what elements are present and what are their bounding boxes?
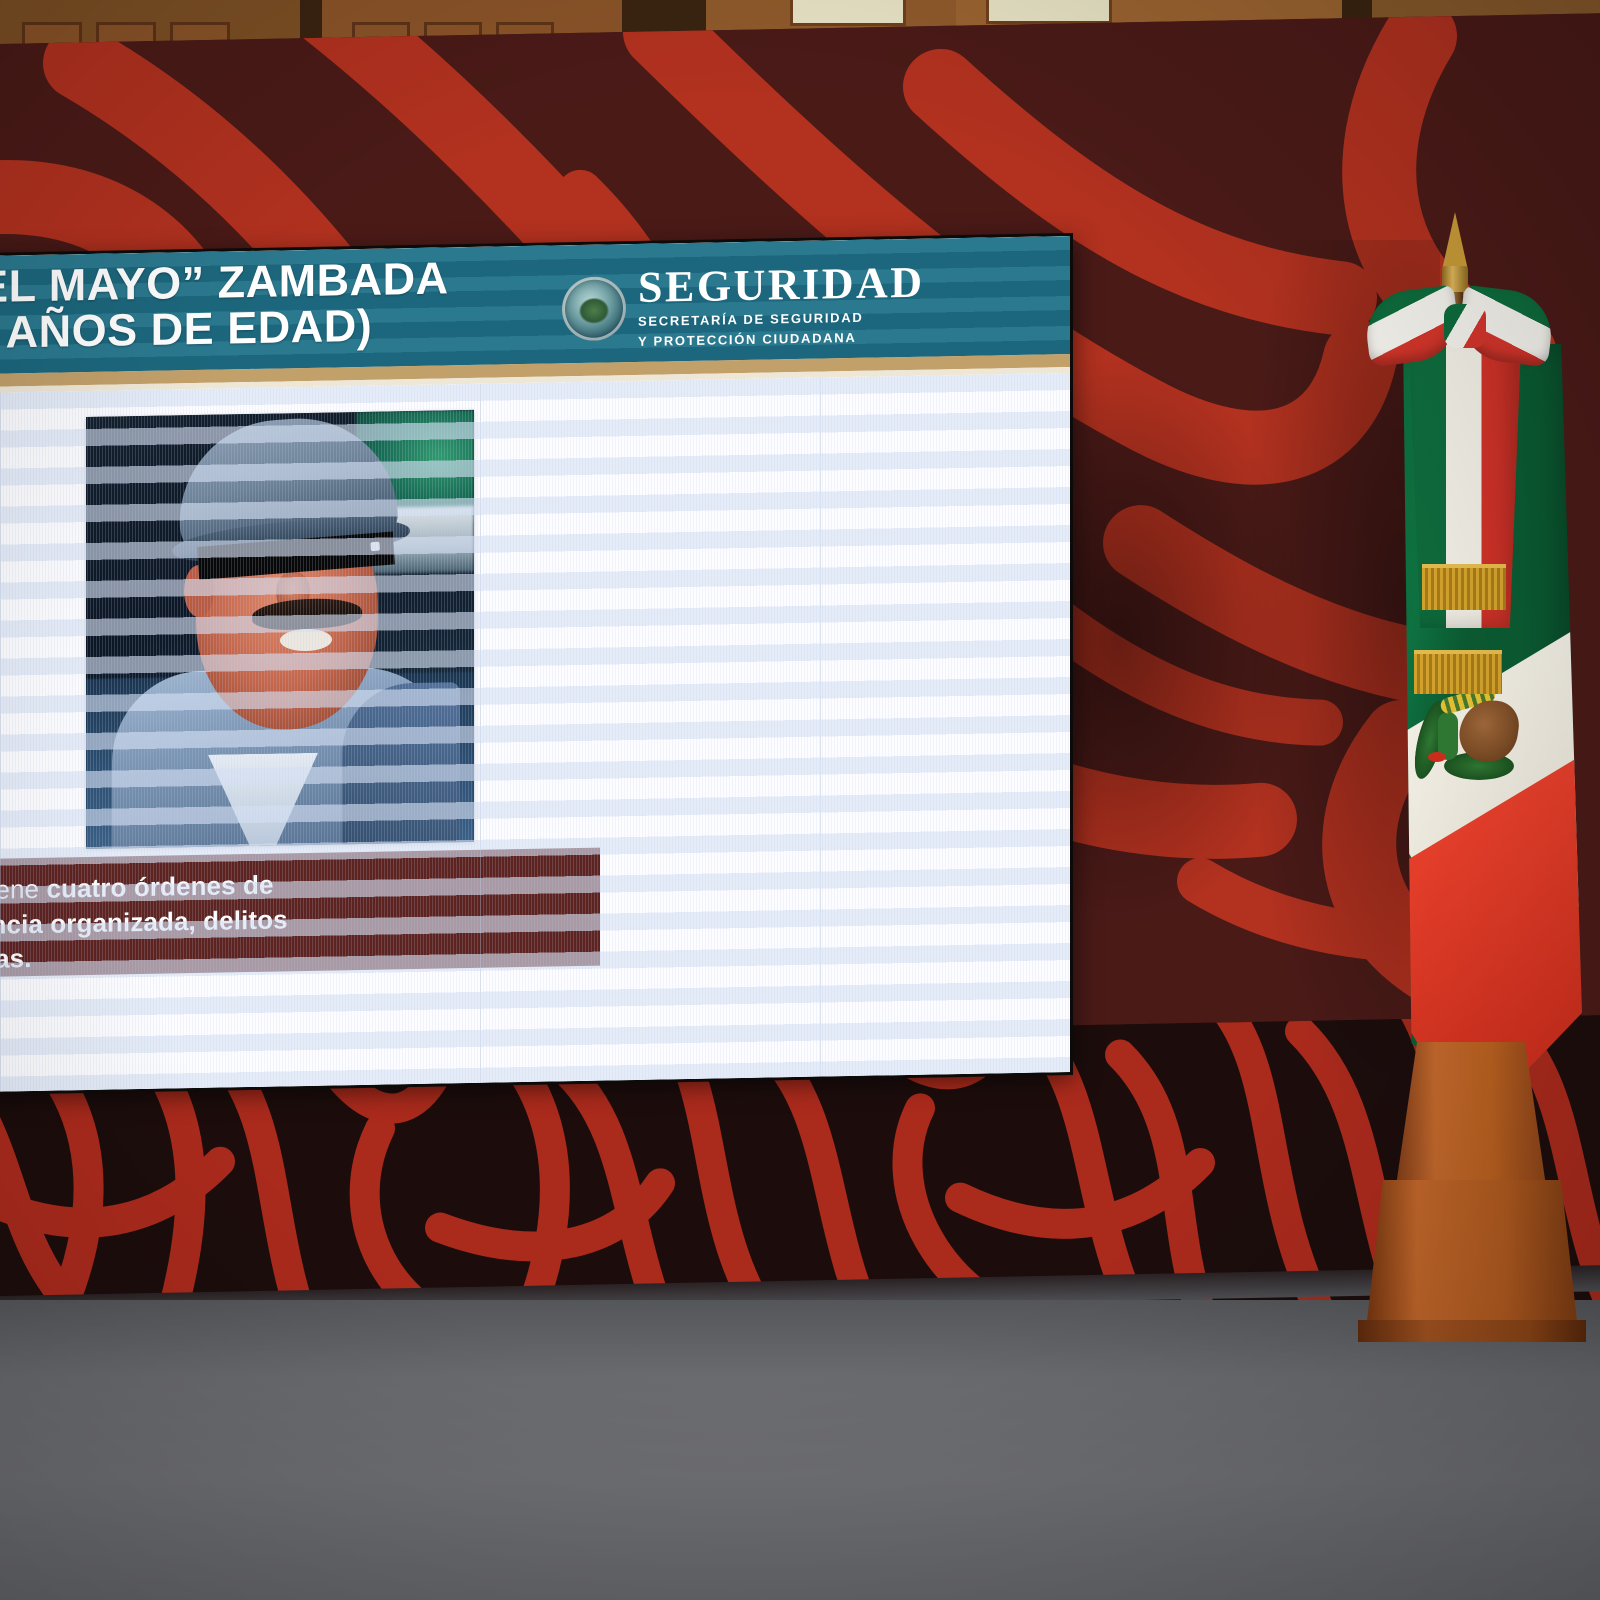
gold-fringe-lower — [1414, 650, 1502, 694]
led-panel-seam-3 — [820, 378, 821, 1077]
coa-ribbon — [1428, 752, 1446, 762]
bow-knot — [1444, 304, 1486, 348]
flag-stand-plinth — [1358, 1320, 1586, 1342]
mexico-seal-icon — [562, 276, 626, 341]
caption-line1-bold: cuatro órdenes de — [46, 870, 273, 904]
flag-stand-upper-block — [1396, 1042, 1546, 1186]
screenshot-stage: AEL “EL MAYO” ZAMBADA (76 AÑOS DE EDAD) … — [0, 0, 1600, 1600]
slide-header-band: AEL “EL MAYO” ZAMBADA (76 AÑOS DE EDAD) … — [0, 236, 1070, 377]
caption-text: alía General de la República tiene cuatr… — [0, 862, 604, 984]
screen-shadow — [1072, 360, 1302, 920]
suspect-photo — [86, 410, 474, 849]
caption-line3-bold: la salud y en materia de armas. — [0, 943, 32, 980]
led-panel-seam-2 — [480, 384, 481, 1083]
censor-bar-highlight — [370, 542, 380, 552]
slide: AEL “EL MAYO” ZAMBADA (76 AÑOS DE EDAD) … — [0, 236, 1070, 1095]
slide-body: alía General de la República tiene cuatr… — [0, 373, 1070, 1095]
led-presentation-screen[interactable]: AEL “EL MAYO” ZAMBADA (76 AÑOS DE EDAD) … — [0, 236, 1070, 1095]
coat-of-arms-icon — [1414, 678, 1532, 796]
door-glass-b — [986, 0, 1112, 24]
led-panel-seam-1 — [0, 393, 1, 1092]
tricolor-bow — [1366, 290, 1552, 364]
flag-stand-lower-block — [1366, 1180, 1578, 1330]
flag-stand — [1356, 1042, 1600, 1332]
seguridad-logo: SEGURIDAD SECRETARÍA DE SEGURIDAD Y PROT… — [562, 261, 925, 352]
door-glass-a — [790, 0, 906, 26]
logo-subtitle-line1: SECRETARÍA DE SEGURIDAD — [638, 309, 925, 331]
slide-title: AEL “EL MAYO” ZAMBADA (76 AÑOS DE EDAD) — [0, 255, 480, 359]
logo-text-block: SEGURIDAD SECRETARÍA DE SEGURIDAD Y PROT… — [638, 261, 925, 351]
spear-finial-icon — [1442, 212, 1468, 270]
slide-caption-box: alía General de la República tiene cuatr… — [0, 848, 600, 984]
gold-fringe-upper — [1422, 564, 1506, 610]
photo-shoulder-right — [342, 682, 460, 844]
stage-floor — [0, 1300, 1600, 1600]
caption-line1-plain: alía General de la República tiene — [0, 874, 46, 911]
logo-wordmark: SEGURIDAD — [638, 261, 925, 310]
